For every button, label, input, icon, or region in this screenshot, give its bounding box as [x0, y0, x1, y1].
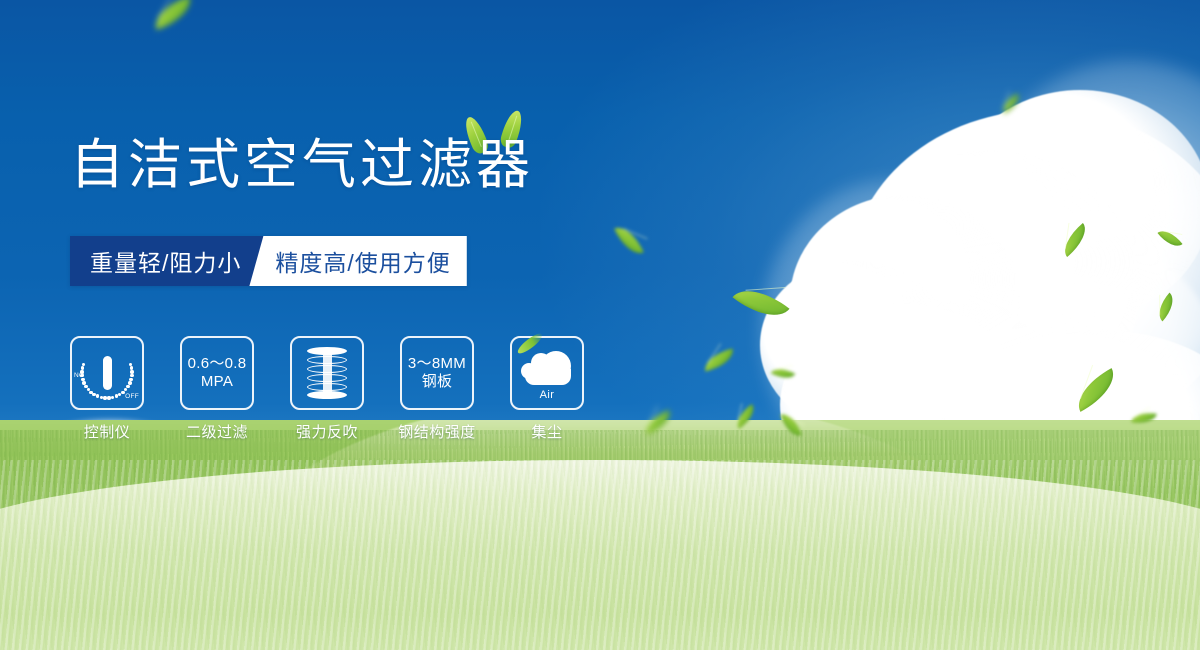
feature-box-strong-blowback[interactable] [290, 336, 364, 410]
grass-field [0, 420, 1200, 650]
gauge-tick-dot [128, 381, 131, 384]
feature-item-strong-blowback[interactable]: 强力反吹 [290, 336, 364, 442]
meadow-foreground [0, 460, 1200, 650]
gauge-dial-icon: NO OFF [76, 342, 138, 404]
pressure-text-icon: 0.6～0.8 MPA [188, 355, 247, 392]
coil-ring [307, 383, 347, 391]
feature-label-dust-collection: 集尘 [531, 421, 562, 442]
coil-ring [307, 356, 347, 364]
subtitle-right: 精度高/使用方便 [249, 236, 466, 286]
cloud-air-icon: Air [519, 347, 575, 399]
subtitle-left: 重量轻/阻力小 [70, 236, 263, 286]
feature-item-two-stage-filter[interactable]: 0.6～0.8 MPA 二级过滤 [180, 336, 254, 442]
page-title: 自洁式空气过滤器 [70, 138, 534, 192]
gauge-needle [103, 356, 112, 390]
subtitle-bar: 重量轻/阻力小 精度高/使用方便 [70, 236, 467, 286]
gauge-tick-dot [124, 388, 127, 391]
coil-ring [307, 374, 347, 382]
steel-plate-text-icon: 3～8MM 钢板 [408, 355, 466, 392]
feature-label-steel-strength: 钢结构强度 [398, 421, 476, 442]
meadow-texture [0, 460, 1200, 650]
feature-box-dust-collection[interactable]: Air [510, 336, 584, 410]
gauge-tick-dot [129, 378, 132, 381]
gauge-tick-dot [121, 391, 124, 394]
coil-spiral-icon [307, 347, 347, 399]
feature-item-dust-collection[interactable]: Air 集尘 [510, 336, 584, 442]
gauge-off-label: OFF [125, 393, 139, 400]
coil-ring [307, 391, 347, 399]
cloud-base [525, 369, 571, 385]
feature-label-two-stage-filter: 二级过滤 [186, 421, 248, 442]
product-banner: 自洁式空气过滤器 重量轻/阻力小 精度高/使用方便 NO OFF 控制仪 0.6… [0, 0, 1200, 650]
gauge-tick-dot [96, 394, 99, 397]
feature-box-steel-strength[interactable]: 3～8MM 钢板 [400, 336, 474, 410]
gauge-tick-dot [130, 366, 133, 369]
gauge-tick-dot [130, 370, 133, 373]
feature-box-two-stage-filter[interactable]: 0.6～0.8 MPA [180, 336, 254, 410]
feature-label-strong-blowback: 强力反吹 [296, 421, 358, 442]
feature-list: NO OFF 控制仪 0.6～0.8 MPA 二级过滤 [70, 336, 584, 442]
feature-item-controller[interactable]: NO OFF 控制仪 [70, 336, 144, 442]
gauge-tick-dot [130, 374, 133, 377]
feature-label-controller: 控制仪 [84, 421, 131, 442]
gauge-tick-dot [111, 396, 114, 399]
air-label: Air [519, 389, 575, 401]
feature-box-controller[interactable]: NO OFF [70, 336, 144, 410]
coil-ring [307, 365, 347, 373]
gauge-tick-dot [126, 385, 129, 388]
coil-ring [307, 347, 347, 355]
feature-item-steel-strength[interactable]: 3～8MM 钢板 钢结构强度 [400, 336, 474, 442]
